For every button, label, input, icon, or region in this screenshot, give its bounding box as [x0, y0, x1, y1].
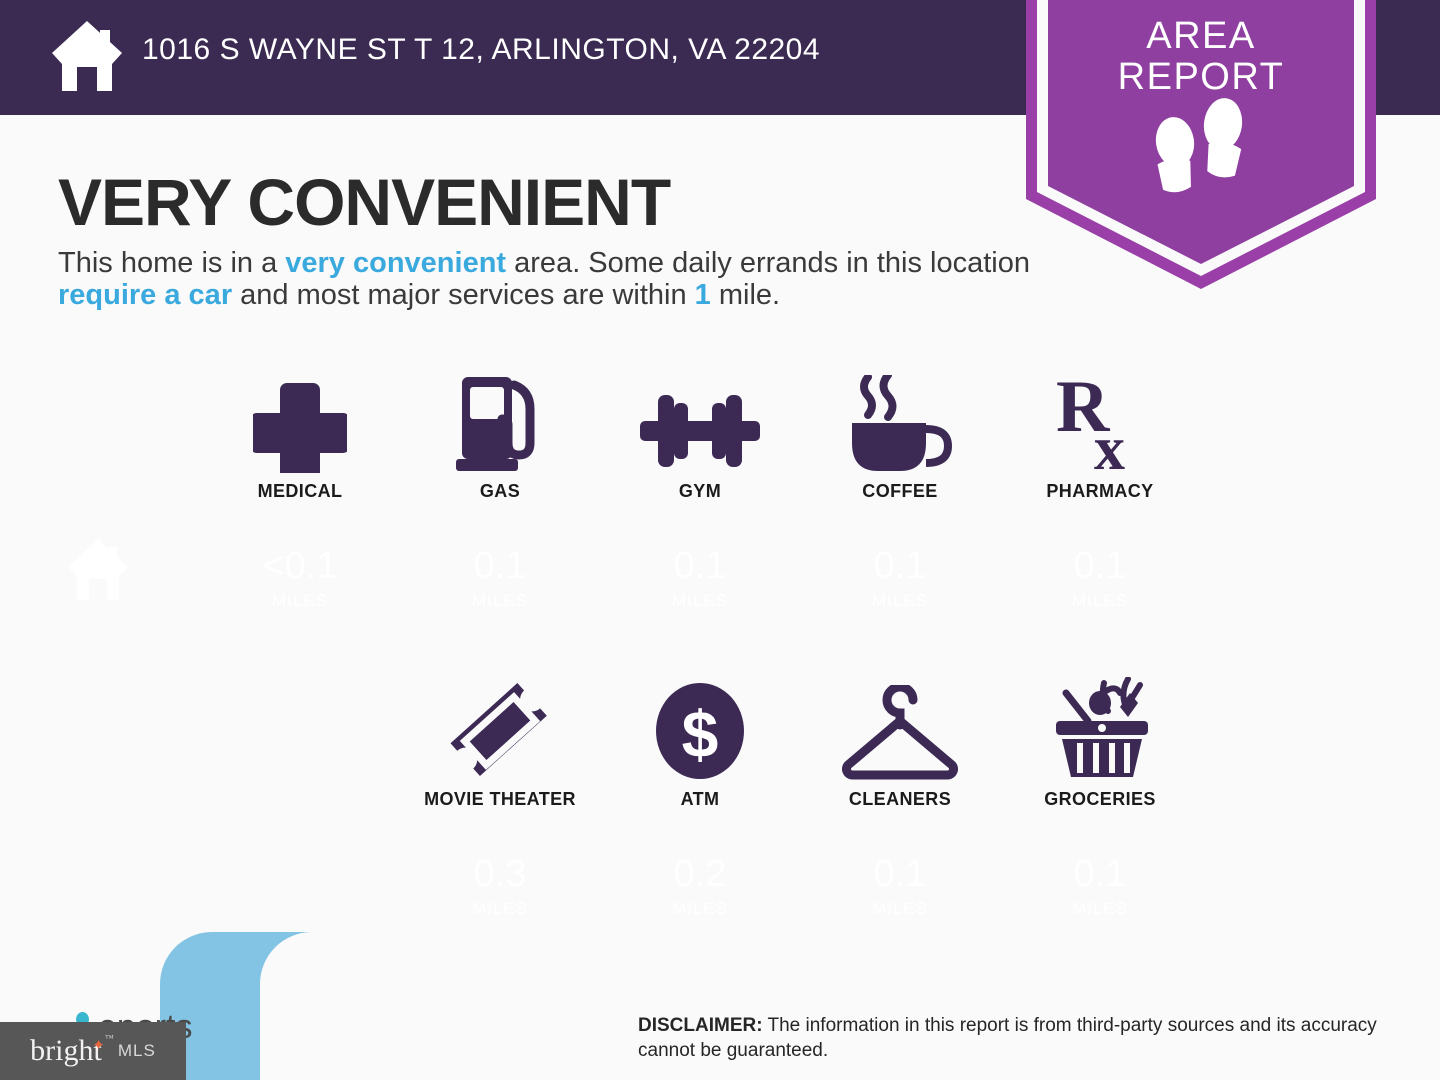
amenity-groceries: GROCERIES	[1000, 678, 1200, 810]
amenity-medical: MEDICAL	[200, 372, 400, 502]
distance-unit: MILES	[272, 592, 328, 609]
distance-cell: 0.1 MILES	[600, 532, 800, 624]
distance-value: 0.1	[1074, 855, 1127, 893]
blurb-text-1: This home is in a	[58, 247, 285, 279]
amenity-pharmacy: R x PHARMACY	[1000, 372, 1200, 502]
distance-row-2: 0.3 MILES 0.2 MILES 0.1 MILES 0.1 MILES	[400, 840, 1200, 932]
amenity-label: GAS	[480, 481, 520, 502]
amenity-label: MEDICAL	[258, 481, 343, 502]
logo-trademark: ™	[105, 1033, 114, 1043]
distance-cell: 0.2 MILES	[600, 840, 800, 932]
distance-unit: MILES	[672, 900, 728, 917]
distance-value: 0.1	[874, 855, 927, 893]
grocery-basket-icon	[1044, 683, 1156, 781]
blurb-text-3: and most major services are within	[232, 279, 695, 311]
amenity-icon-row-1: MEDICAL GAS	[200, 372, 1200, 502]
logo-star-icon: ✦	[92, 1036, 105, 1055]
distance-value: 0.1	[674, 547, 727, 585]
distance-unit: MILES	[872, 592, 928, 609]
amenity-label: GYM	[679, 481, 721, 502]
disclaimer: DISCLAIMER: The information in this repo…	[638, 1014, 1398, 1063]
amenity-label: CLEANERS	[849, 789, 951, 810]
distance-unit: MILES	[472, 592, 528, 609]
distance-cell: 0.1 MILES	[800, 532, 1000, 624]
gas-pump-icon	[454, 375, 546, 473]
medical-cross-icon	[253, 375, 347, 473]
svg-text:x: x	[1094, 415, 1125, 473]
home-marker-icon	[66, 536, 130, 602]
blurb-highlight-convenient: very convenient	[285, 247, 506, 279]
distance-value: 0.2	[674, 855, 727, 893]
blurb-text-4: mile.	[711, 279, 780, 311]
distance-cell: 0.1 MILES	[1000, 532, 1200, 624]
distance-unit: MILES	[872, 900, 928, 917]
amenity-label: COFFEE	[862, 481, 937, 502]
distance-cell: 0.1 MILES	[400, 532, 600, 624]
distance-cell: 0.3 MILES	[400, 840, 600, 932]
blurb-highlight-car: require a car	[58, 279, 232, 311]
distance-unit: MILES	[672, 592, 728, 609]
distance-cell: 0.1 MILES	[800, 840, 1000, 932]
logo-wordmark: bright ✦ ™	[30, 1034, 102, 1068]
distance-cell: <0.1 MILES	[200, 532, 400, 624]
home-icon	[50, 17, 124, 93]
amenity-icon-row-2: MOVIE THEATER $ ATM CLEANERS	[400, 678, 1200, 810]
distance-value: 0.1	[1074, 547, 1127, 585]
dumbbell-icon	[638, 375, 762, 473]
distance-value: <0.1	[262, 547, 337, 585]
summary-blurb: This home is in a very convenient area. …	[58, 248, 1038, 312]
svg-text:$: $	[682, 697, 719, 771]
distance-value: 0.1	[874, 547, 927, 585]
amenity-movie-theater: MOVIE THEATER	[400, 678, 600, 810]
ticket-icon	[447, 683, 553, 781]
amenity-label: PHARMACY	[1046, 481, 1153, 502]
coffee-cup-icon	[848, 375, 952, 473]
amenity-label: ATM	[681, 789, 720, 810]
amenity-gas: GAS	[400, 372, 600, 502]
distance-value: 0.3	[474, 855, 527, 893]
area-report-badge: AREA REPORT	[1026, 0, 1376, 289]
dollar-coin-icon: $	[654, 683, 746, 781]
distance-row-1: <0.1 MILES 0.1 MILES 0.1 MILES 0.1 MILES…	[200, 532, 1200, 624]
amenity-atm: $ ATM	[600, 678, 800, 810]
property-address: 1016 S WAYNE ST T 12, ARLINGTON, VA 2220…	[142, 33, 820, 67]
logo-word-text: bright	[30, 1034, 102, 1067]
blurb-highlight-miles: 1	[695, 279, 711, 311]
amenity-gym: GYM	[600, 372, 800, 502]
amenity-coffee: COFFEE	[800, 372, 1000, 502]
amenity-label: MOVIE THEATER	[424, 789, 576, 810]
amenity-label: GROCERIES	[1044, 789, 1156, 810]
bright-mls-logo: bright ✦ ™ MLS	[0, 1022, 186, 1080]
area-report-page: 1016 S WAYNE ST T 12, ARLINGTON, VA 2220…	[0, 0, 1440, 1080]
rx-icon: R x	[1054, 375, 1146, 473]
disclaimer-label: DISCLAIMER:	[638, 1015, 763, 1036]
clothes-hanger-icon	[838, 683, 962, 781]
blurb-text-2: area. Some daily errands in this locatio…	[506, 247, 1030, 279]
distance-cell: 0.1 MILES	[1000, 840, 1200, 932]
logo-subtext: MLS	[118, 1041, 156, 1061]
page-title: VERY CONVENIENT	[58, 164, 670, 240]
distance-unit: MILES	[472, 900, 528, 917]
distance-value: 0.1	[474, 547, 527, 585]
distance-unit: MILES	[1072, 592, 1128, 609]
amenity-cleaners: CLEANERS	[800, 678, 1000, 810]
distance-unit: MILES	[1072, 900, 1128, 917]
